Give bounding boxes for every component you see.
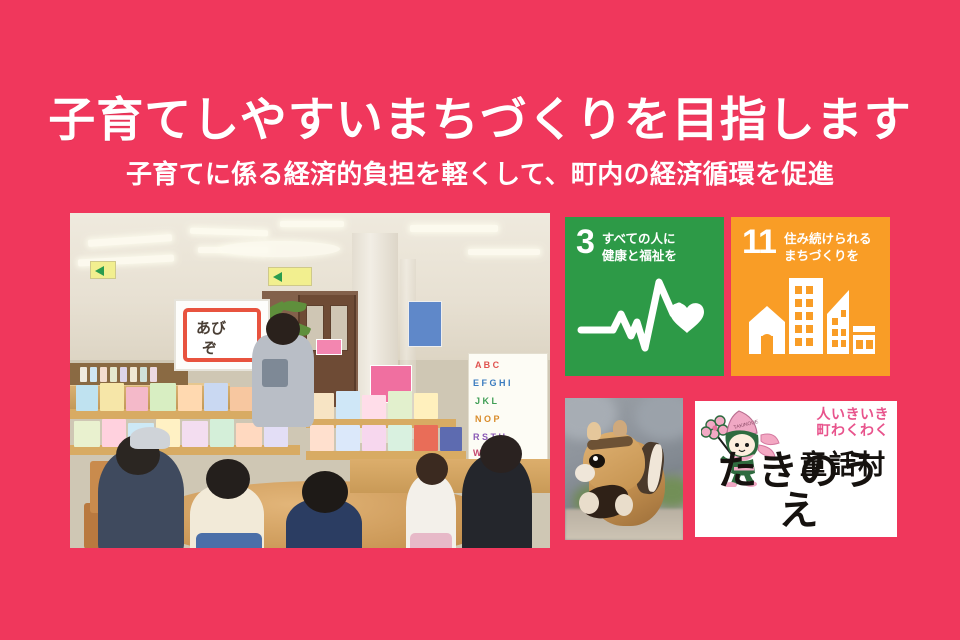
- picture-book: [414, 425, 438, 451]
- library-photo-scene: あび ぞ A B C E F G H I J K L N O P R S T U…: [70, 213, 550, 548]
- eye-highlight: [593, 456, 598, 461]
- chipmunk-cheek: [575, 464, 595, 482]
- picture-book: [388, 391, 412, 419]
- person-head: [302, 471, 348, 513]
- child-skirt: [410, 533, 452, 548]
- logo-tagline-line1: 人いきいき: [817, 406, 890, 422]
- sdg-3-line1: すべての人に: [602, 231, 677, 248]
- sdg-tile-11[interactable]: 11 住み続けられる まちづくりを: [731, 217, 890, 376]
- room-sign-line2: ぞ: [202, 341, 217, 356]
- picture-book: [336, 391, 360, 419]
- chipmunk-paw: [615, 494, 633, 516]
- picture-book: [182, 421, 208, 447]
- picture-book: [76, 385, 98, 411]
- picture-book: [210, 419, 234, 447]
- page-subtitle: 子育てに係る経済的負担を軽くして、町内の経済循環を促進: [0, 154, 960, 191]
- picture-book: [150, 383, 176, 411]
- sdg-11-line1: 住み続けられる: [784, 231, 872, 248]
- ceiling-light: [280, 221, 344, 227]
- exit-sign-icon: [268, 267, 312, 286]
- chipmunk-photo: [565, 398, 683, 540]
- page-title: 子育てしやすいまちづくりを目指します: [0, 96, 960, 145]
- sdg-3-line2: 健康と福祉を: [602, 248, 677, 265]
- ceiling-light: [410, 225, 498, 232]
- shelf-book: [140, 367, 147, 382]
- sdg-11-header: 11 住み続けられる まちづくりを: [731, 217, 890, 264]
- ceiling-light: [468, 249, 540, 255]
- person-head: [480, 435, 522, 473]
- picture-book: [74, 421, 100, 447]
- pink-notice: [316, 339, 342, 355]
- person-head: [266, 313, 300, 345]
- room-sign-line1: あび: [196, 321, 226, 336]
- picture-book: [100, 383, 124, 411]
- picture-book: [126, 387, 148, 411]
- chipmunk-ear: [587, 422, 601, 440]
- exit-sign-icon: [90, 261, 116, 279]
- ceiling-dome-light: [220, 241, 340, 257]
- chipmunk-ear: [613, 420, 627, 436]
- shelf-book: [150, 367, 157, 382]
- logo-town-name: たきのうえ: [703, 451, 895, 531]
- sdg-3-text: すべての人に 健康と福祉を: [602, 228, 677, 264]
- picture-book: [362, 395, 386, 419]
- picture-book: [414, 393, 438, 419]
- logo-tagline: 人いきいき 町わくわく: [817, 406, 890, 438]
- logo-tagline-line2: 町わくわく: [817, 422, 890, 438]
- poster-canvas: { "theme": { "background_color": "#F0375…: [0, 0, 960, 640]
- sdg-tile-3[interactable]: 3 すべての人に 健康と福祉を: [565, 217, 724, 376]
- chipmunk-paw: [579, 492, 599, 514]
- shelf-book: [80, 367, 87, 382]
- picture-book: [336, 425, 360, 451]
- picture-book: [362, 425, 386, 451]
- person-head: [416, 453, 448, 485]
- person-head: [206, 459, 250, 499]
- child-pants: [196, 533, 262, 548]
- shelf-book: [90, 367, 97, 382]
- shelf-book: [110, 367, 117, 382]
- shelf-book: [130, 367, 137, 382]
- sdg-3-number: 3: [576, 228, 594, 257]
- shelf-book: [120, 367, 127, 382]
- wall-poster: [408, 301, 442, 347]
- picture-book: [178, 385, 202, 411]
- sdg-11-text: 住み続けられる まちづくりを: [784, 228, 872, 264]
- cap: [130, 427, 170, 449]
- library-photo: あび ぞ A B C E F G H I J K L N O P R S T U…: [70, 213, 550, 548]
- back-shelf: [70, 363, 188, 385]
- hoodie-logo: [262, 359, 288, 387]
- shelf-book: [100, 367, 107, 382]
- town-logo-panel[interactable]: TAKINOUE 人いきいき 町わくわく 童話村 たきのうえ: [692, 398, 900, 540]
- heartbeat-heart-icon: [565, 270, 724, 366]
- picture-book: [388, 425, 412, 451]
- sdg-11-line2: まちづくりを: [784, 248, 872, 265]
- sdg-3-header: 3 すべての人に 健康と福祉を: [565, 217, 724, 264]
- picture-book: [204, 383, 228, 411]
- picture-book: [440, 427, 462, 451]
- headline-area: 子育てしやすいまちづくりを目指します 子育てに係る経済的負担を軽くして、町内の経…: [0, 96, 960, 191]
- picture-book: [310, 425, 334, 451]
- cityscape-buildings-icon: [731, 270, 890, 366]
- sdg-11-number: 11: [742, 228, 776, 257]
